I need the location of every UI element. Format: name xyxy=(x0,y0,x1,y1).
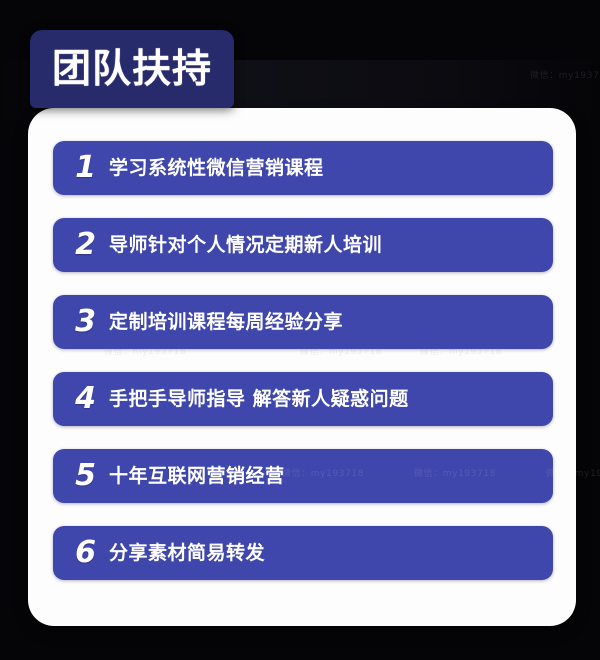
list-item[interactable]: 1 学习系统性微信营销课程 xyxy=(53,141,553,195)
list-item[interactable]: 5 十年互联网营销经营 xyxy=(53,449,553,503)
benefit-list: 1 学习系统性微信营销课程 2 导师针对个人情况定期新人培训 3 定制培训课程每… xyxy=(53,141,553,580)
list-item-label: 学习系统性微信营销课程 xyxy=(105,159,553,178)
list-item-number: 1 xyxy=(65,153,105,183)
list-item[interactable]: 4 手把手导师指导 解答新人疑惑问题 xyxy=(53,372,553,426)
list-item-number: 5 xyxy=(65,461,105,491)
list-item-label: 定制培训课程每周经验分享 xyxy=(105,313,553,332)
list-item-number: 6 xyxy=(65,538,105,568)
watermark-text: 微信：my193718 xyxy=(530,68,600,81)
list-item[interactable]: 3 定制培训课程每周经验分享 xyxy=(53,295,553,349)
page-title: 团队扶持 xyxy=(52,50,212,89)
list-item-label: 导师针对个人情况定期新人培训 xyxy=(105,236,553,255)
content-card: 1 学习系统性微信营销课程 2 导师针对个人情况定期新人培训 3 定制培训课程每… xyxy=(28,108,576,626)
title-badge: 团队扶持 xyxy=(30,30,234,108)
list-item-number: 2 xyxy=(65,230,105,260)
list-item[interactable]: 6 分享素材简易转发 xyxy=(53,526,553,580)
list-item-number: 3 xyxy=(65,307,105,337)
list-item-number: 4 xyxy=(65,384,105,414)
list-item[interactable]: 2 导师针对个人情况定期新人培训 xyxy=(53,218,553,272)
list-item-label: 手把手导师指导 解答新人疑惑问题 xyxy=(105,390,553,409)
poster-root: 团队扶持 1 学习系统性微信营销课程 2 导师针对个人情况定期新人培训 3 定制… xyxy=(0,0,600,660)
list-item-label: 分享素材简易转发 xyxy=(105,544,553,563)
list-item-label: 十年互联网营销经营 xyxy=(105,467,553,486)
